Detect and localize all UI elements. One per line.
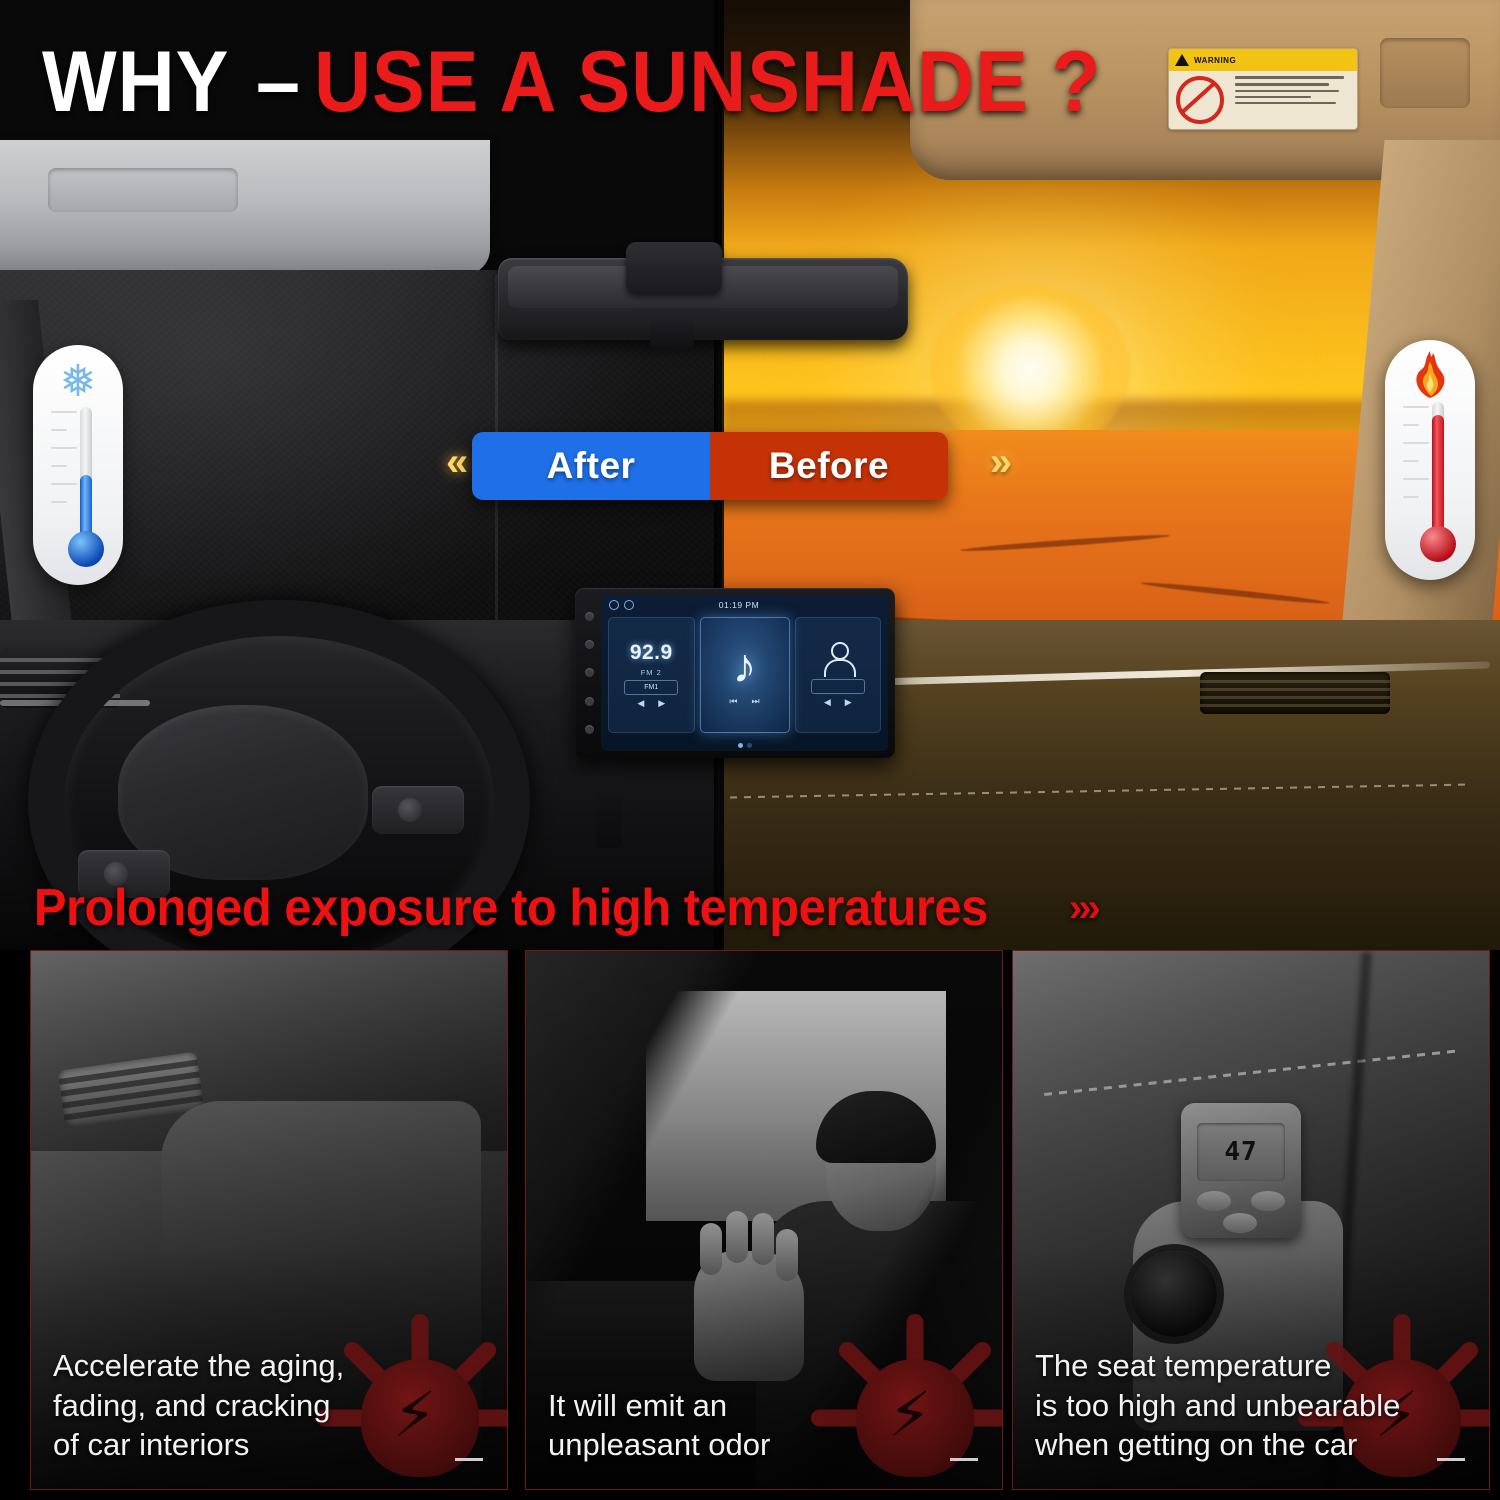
signal-icon xyxy=(624,600,634,610)
visor-slot-cool xyxy=(48,168,238,212)
title-headline: USE A SUNSHADE ? xyxy=(314,39,1101,125)
thermometer-ticks-cold xyxy=(51,411,77,541)
bluetooth-icon xyxy=(609,600,619,610)
phone-card[interactable]: ◀ ▶ xyxy=(795,617,882,733)
panel-aging-caption: Accelerate the aging, fading, and cracki… xyxy=(31,1346,507,1465)
menu-button[interactable] xyxy=(585,725,594,734)
head-unit-mount xyxy=(596,752,622,848)
radio-band: FM 2 xyxy=(641,668,662,677)
caption-line: of car interiors xyxy=(53,1425,485,1465)
steering-dpad-right[interactable] xyxy=(398,798,422,822)
music-note-icon: ♪ xyxy=(733,643,757,691)
thermometer-ticks-hot xyxy=(1403,406,1429,536)
page-dots[interactable] xyxy=(601,743,888,748)
caption-underscore xyxy=(455,1458,483,1461)
phone-action[interactable] xyxy=(811,679,865,694)
mute-button[interactable] xyxy=(585,668,594,677)
status-icons xyxy=(609,600,634,610)
benefit-panels: ⚡ Accelerate the aging, fading, and crac… xyxy=(0,950,1500,1500)
music-card[interactable]: ♪ ⏮ ⏭ xyxy=(700,617,790,733)
title-dash: – xyxy=(256,39,301,125)
subheadline-text: Prolonged exposure to high temperatures xyxy=(0,878,988,938)
flame-icon xyxy=(1409,350,1451,400)
radio-prev-icon[interactable]: ◀ xyxy=(637,698,644,709)
power-button[interactable] xyxy=(585,612,594,621)
radio-next-icon[interactable]: ▶ xyxy=(658,698,665,709)
home-button[interactable] xyxy=(585,697,594,706)
after-badge[interactable]: After xyxy=(472,432,710,500)
left-chevron-icon: « xyxy=(446,440,460,485)
clock-label: 01:19 PM xyxy=(719,600,759,610)
phone-next-icon[interactable]: ▶ xyxy=(845,697,852,708)
panel-odor: ⚡ It will emit an unpleasant odor xyxy=(525,950,1003,1490)
caption-line: Accelerate the aging, xyxy=(53,1346,485,1386)
volume-knob[interactable] xyxy=(585,640,594,649)
caption-line: It will emit an xyxy=(548,1386,980,1426)
infotainment-head-unit[interactable]: 01:19 PM 92.9 FM 2 FM1 ◀ ▶ ♪ xyxy=(575,588,895,758)
thermometer-bulb-cold xyxy=(68,531,104,567)
caption-line: The seat temperature xyxy=(1035,1346,1467,1386)
right-chevron-icon: » xyxy=(990,440,1004,485)
subheadline-band: Prolonged exposure to high temperatures … xyxy=(0,866,1500,950)
panel-aging: ⚡ Accelerate the aging, fading, and crac… xyxy=(30,950,508,1490)
sunshade-promo-poster: WARNING xyxy=(0,0,1500,1500)
caption-line: when getting on the car xyxy=(1035,1425,1467,1465)
panel-seat-caption: The seat temperature is too high and unb… xyxy=(1013,1346,1489,1465)
music-next-icon[interactable]: ⏭ xyxy=(752,696,760,707)
mirror-mount xyxy=(650,322,694,350)
music-prev-icon[interactable]: ⏮ xyxy=(729,696,737,707)
phone-prev-icon[interactable]: ◀ xyxy=(824,697,831,708)
radio-preset[interactable]: FM1 xyxy=(624,680,678,695)
rearview-mirror xyxy=(498,258,908,340)
subheadline-chevrons: ››› xyxy=(1069,886,1097,931)
head-unit-screen[interactable]: 01:19 PM 92.9 FM 2 FM1 ◀ ▶ ♪ xyxy=(601,595,888,751)
hot-thermometer xyxy=(1385,340,1475,580)
user-icon xyxy=(821,642,855,676)
before-after-hero: WARNING xyxy=(0,0,1500,950)
page-dot-active[interactable] xyxy=(738,743,743,748)
mirror-camera-pod xyxy=(626,242,722,294)
cold-thermometer: ❅ xyxy=(33,345,123,585)
caption-underscore xyxy=(950,1458,978,1461)
caption-line: is too high and unbearable xyxy=(1035,1386,1467,1426)
caption-line: unpleasant odor xyxy=(548,1425,980,1465)
sun-visor-cool xyxy=(0,140,490,275)
before-badge[interactable]: Before xyxy=(710,432,948,500)
caption-underscore xyxy=(1437,1458,1465,1461)
panel-odor-caption: It will emit an unpleasant odor xyxy=(526,1386,1002,1465)
caption-line: fading, and cracking xyxy=(53,1386,485,1426)
page-dot[interactable] xyxy=(747,743,752,748)
thermometer-bulb-hot xyxy=(1420,526,1456,562)
snowflake-icon: ❅ xyxy=(55,359,101,405)
air-vent-right xyxy=(1200,672,1390,714)
head-unit-side-buttons[interactable] xyxy=(581,602,597,744)
title-why: WHY xyxy=(42,39,229,125)
before-after-toggle[interactable]: After Before xyxy=(472,432,948,500)
radio-card[interactable]: 92.9 FM 2 FM1 ◀ ▶ xyxy=(608,617,695,733)
page-title: WHY – USE A SUNSHADE ? xyxy=(0,34,1500,130)
panel-seat-temperature: 47 ⚡ The seat temperature is too h xyxy=(1012,950,1490,1490)
radio-frequency: 92.9 xyxy=(630,641,673,665)
